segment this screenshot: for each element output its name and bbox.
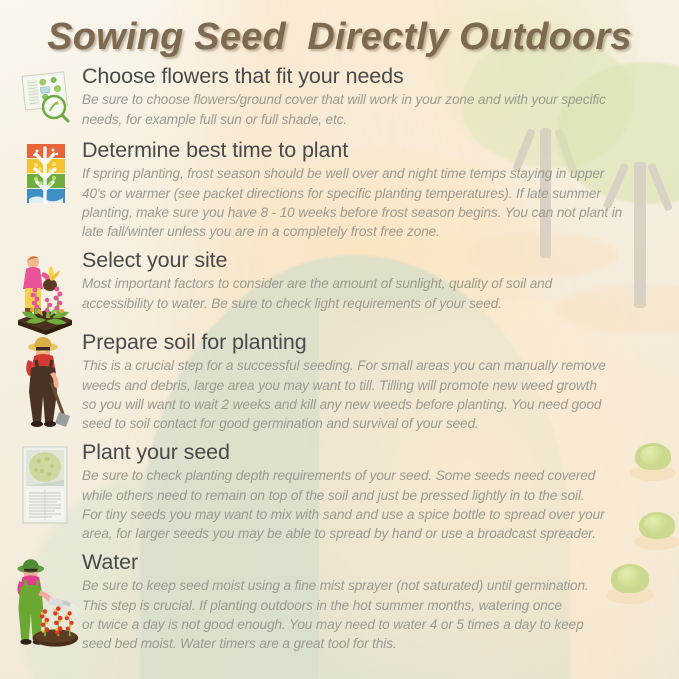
icon-container [8, 248, 82, 336]
step-text: Select your site Most important factors … [82, 248, 679, 313]
step-text: Plant your seed Be sure to check plantin… [82, 440, 679, 544]
step-body: Be sure to check planting depth requirem… [82, 466, 673, 543]
step-body: Most important factors to consider are t… [82, 274, 673, 313]
poster-title-area: Sowing Seed Directly Outdoors [0, 16, 679, 59]
icon-container [8, 330, 82, 430]
step-heading: Choose flowers that fit your needs [82, 64, 673, 89]
step-heading: Water [82, 550, 673, 575]
icon-container [8, 138, 82, 208]
gardener-with-shovel-icon [14, 334, 76, 430]
step-heading: Determine best time to plant [82, 138, 673, 163]
step-heading: Plant your seed [82, 440, 673, 465]
steps-list: Choose flowers that fit your needs Be su… [0, 64, 679, 668]
seed-packet-icon [17, 444, 73, 526]
list-item: Plant your seed Be sure to check plantin… [0, 440, 679, 550]
step-body: This is a crucial step for a successful … [82, 356, 673, 433]
step-heading: Prepare soil for planting [82, 330, 673, 355]
step-text: Determine best time to plant If spring p… [82, 138, 679, 242]
infographic-poster: Sowing Seed Directly Outdoors [0, 0, 679, 679]
list-item: Prepare soil for planting This is a cruc… [0, 330, 679, 440]
step-text: Prepare soil for planting This is a cruc… [82, 330, 679, 434]
list-item: Determine best time to plant If spring p… [0, 138, 679, 248]
icon-container [8, 440, 82, 526]
flower-bed-gardener-icon [12, 252, 78, 336]
icon-container [8, 64, 82, 124]
step-body: If spring planting, frost season should … [82, 164, 673, 241]
list-item: Choose flowers that fit your needs Be su… [0, 64, 679, 138]
list-item: Select your site Most important factors … [0, 248, 679, 330]
four-seasons-tree-icon [19, 142, 71, 208]
page-title: Sowing Seed Directly Outdoors [0, 16, 679, 59]
step-heading: Select your site [82, 248, 673, 273]
step-text: Choose flowers that fit your needs Be su… [82, 64, 679, 129]
gardener-watering-icon [8, 554, 82, 650]
step-text: Water Be sure to keep seed moist using a… [82, 550, 679, 654]
step-body: Be sure to keep seed moist using a fine … [82, 576, 673, 653]
step-body: Be sure to choose flowers/ground cover t… [82, 90, 673, 129]
garden-plan-map-icon [17, 68, 73, 124]
icon-container [8, 550, 82, 650]
list-item: Water Be sure to keep seed moist using a… [0, 550, 679, 668]
